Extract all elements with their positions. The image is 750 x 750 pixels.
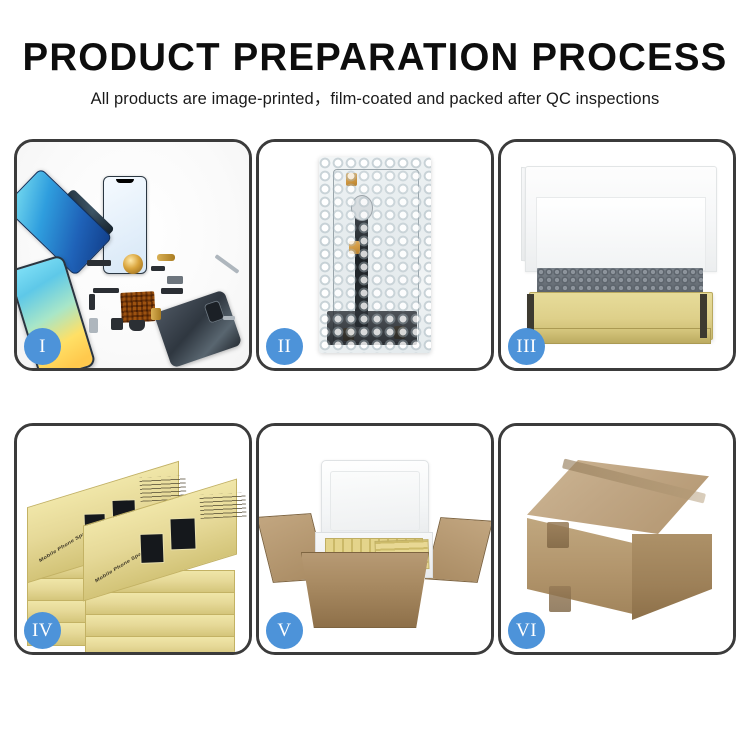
page-subtitle: All products are image-printed，film-coat…: [0, 91, 750, 108]
screw-icon: [223, 316, 235, 320]
carton-front-face: [527, 518, 633, 614]
process-step-5[interactable]: V: [256, 423, 494, 655]
carton-body: [301, 552, 429, 628]
part-camera-icon: [111, 318, 123, 330]
page-title: PRODUCT PREPARATION PROCESS: [6, 38, 745, 77]
tape-tab-icon: [349, 241, 360, 254]
box-layer: [85, 592, 235, 616]
phone-back-housing-icon: [154, 290, 243, 368]
part-bracket-icon: [93, 288, 119, 293]
part-connector-icon: [157, 254, 175, 261]
carton-tape-tab-lower: [549, 586, 571, 612]
box-print-lines: [199, 493, 246, 519]
foam-lid-open: [321, 460, 429, 540]
screwdriver-icon: [214, 254, 239, 274]
box-window-left: [139, 533, 164, 564]
process-step-grid: I II III: [14, 139, 736, 655]
carton-tape-tab-upper: [547, 522, 569, 548]
box-corner-right: [700, 294, 707, 338]
screen-lower-section: [327, 311, 417, 345]
part-sim-tray-icon: [89, 318, 98, 333]
box-layer: [85, 614, 235, 638]
yellow-box-front-edge: [531, 328, 711, 344]
process-step-1[interactable]: I: [14, 139, 252, 371]
white-foam-lid: [525, 166, 717, 272]
part-gold-chip-icon: [151, 308, 161, 320]
carton-flap-right: [425, 517, 491, 583]
part-cable-icon: [161, 288, 183, 294]
tape-tab-icon: [346, 173, 357, 186]
part-module-icon: [167, 276, 183, 284]
process-step-6[interactable]: VI: [498, 423, 736, 655]
part-strip-icon: [87, 260, 111, 266]
page-header: PRODUCT PREPARATION PROCESS All products…: [0, 0, 750, 108]
yellow-box-stack: Mobile Phone Spare Parts Mobile Phone Sp…: [23, 444, 247, 644]
process-step-4[interactable]: Mobile Phone Spare Parts Mobile Phone Sp…: [14, 423, 252, 655]
step-badge-1: I: [24, 328, 61, 365]
carton-side-face: [632, 534, 712, 620]
bubble-wrap-bag: [319, 157, 431, 353]
box-layer: [85, 636, 235, 652]
speaker-module-icon: [123, 254, 143, 274]
step-badge-4: IV: [24, 612, 61, 649]
step-badge-6: VI: [508, 612, 545, 649]
process-step-3[interactable]: III: [498, 139, 736, 371]
part-flex-icon: [151, 266, 165, 271]
box-window-right: [169, 518, 196, 551]
part-taptic-icon: [129, 320, 145, 331]
part-bracket-arm-icon: [89, 294, 95, 310]
process-step-2[interactable]: II: [256, 139, 494, 371]
step-badge-5: V: [266, 612, 303, 649]
step-badge-3: III: [508, 328, 545, 365]
step-badge-2: II: [266, 328, 303, 365]
notch-icon: [116, 179, 134, 183]
